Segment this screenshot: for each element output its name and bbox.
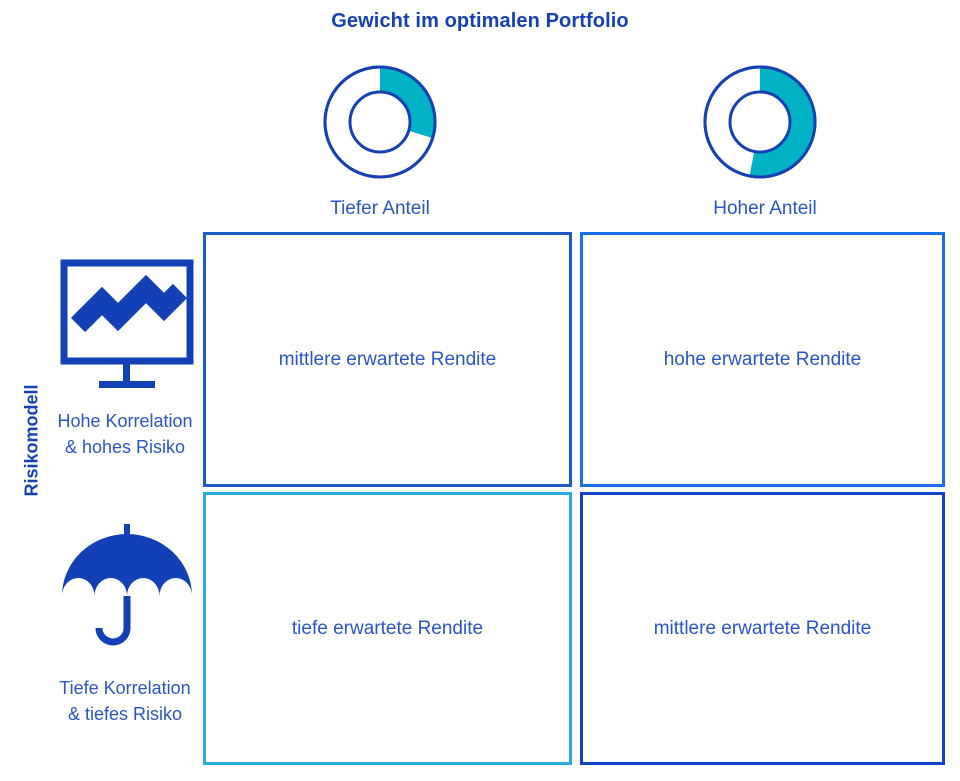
row-header-line-2: & hohes Risiko xyxy=(20,434,230,460)
column-header-tiefer-anteil: Tiefer Anteil xyxy=(250,198,510,220)
donut-chart-icon xyxy=(320,62,440,182)
row-header-line-1: Hohe Korrelation xyxy=(20,408,230,434)
quadrant-bottom-left-label: tiefe erwartete Rendite xyxy=(278,618,497,640)
quadrant-top-right[interactable]: hohe erwartete Rendite xyxy=(580,232,945,487)
row-header-line-1: Tiefe Korrelation xyxy=(20,675,230,701)
donut-chart-icon xyxy=(700,62,820,182)
monitor-chart-icon xyxy=(52,255,202,395)
donut-chart-tiefer-anteil xyxy=(320,62,440,182)
quadrant-bottom-right[interactable]: mittlere erwartete Rendite xyxy=(580,492,945,765)
row-header-line-2: & tiefes Risiko xyxy=(20,701,230,727)
quadrant-bottom-left[interactable]: tiefe erwartete Rendite xyxy=(203,492,572,765)
quadrant-top-right-label: hohe erwartete Rendite xyxy=(650,349,876,371)
page-title: Gewicht im optimalen Portfolio xyxy=(0,10,960,33)
donut-chart-hoher-anteil xyxy=(700,62,820,182)
monitor-chart-icon-wrap xyxy=(52,255,202,395)
row-header-hohe-korrelation: Hohe Korrelation & hohes Risiko xyxy=(20,408,230,460)
quadrant-bottom-right-label: mittlere erwartete Rendite xyxy=(640,618,886,640)
column-header-hoher-anteil: Hoher Anteil xyxy=(635,198,895,220)
umbrella-icon-wrap xyxy=(52,520,202,660)
matrix-diagram: Gewicht im optimalen Portfolio Tiefer An… xyxy=(0,0,960,781)
quadrant-top-left-label: mittlere erwartete Rendite xyxy=(265,349,511,371)
umbrella-icon xyxy=(52,520,202,660)
quadrant-top-left[interactable]: mittlere erwartete Rendite xyxy=(203,232,572,487)
row-header-tiefe-korrelation: Tiefe Korrelation & tiefes Risiko xyxy=(20,675,230,727)
